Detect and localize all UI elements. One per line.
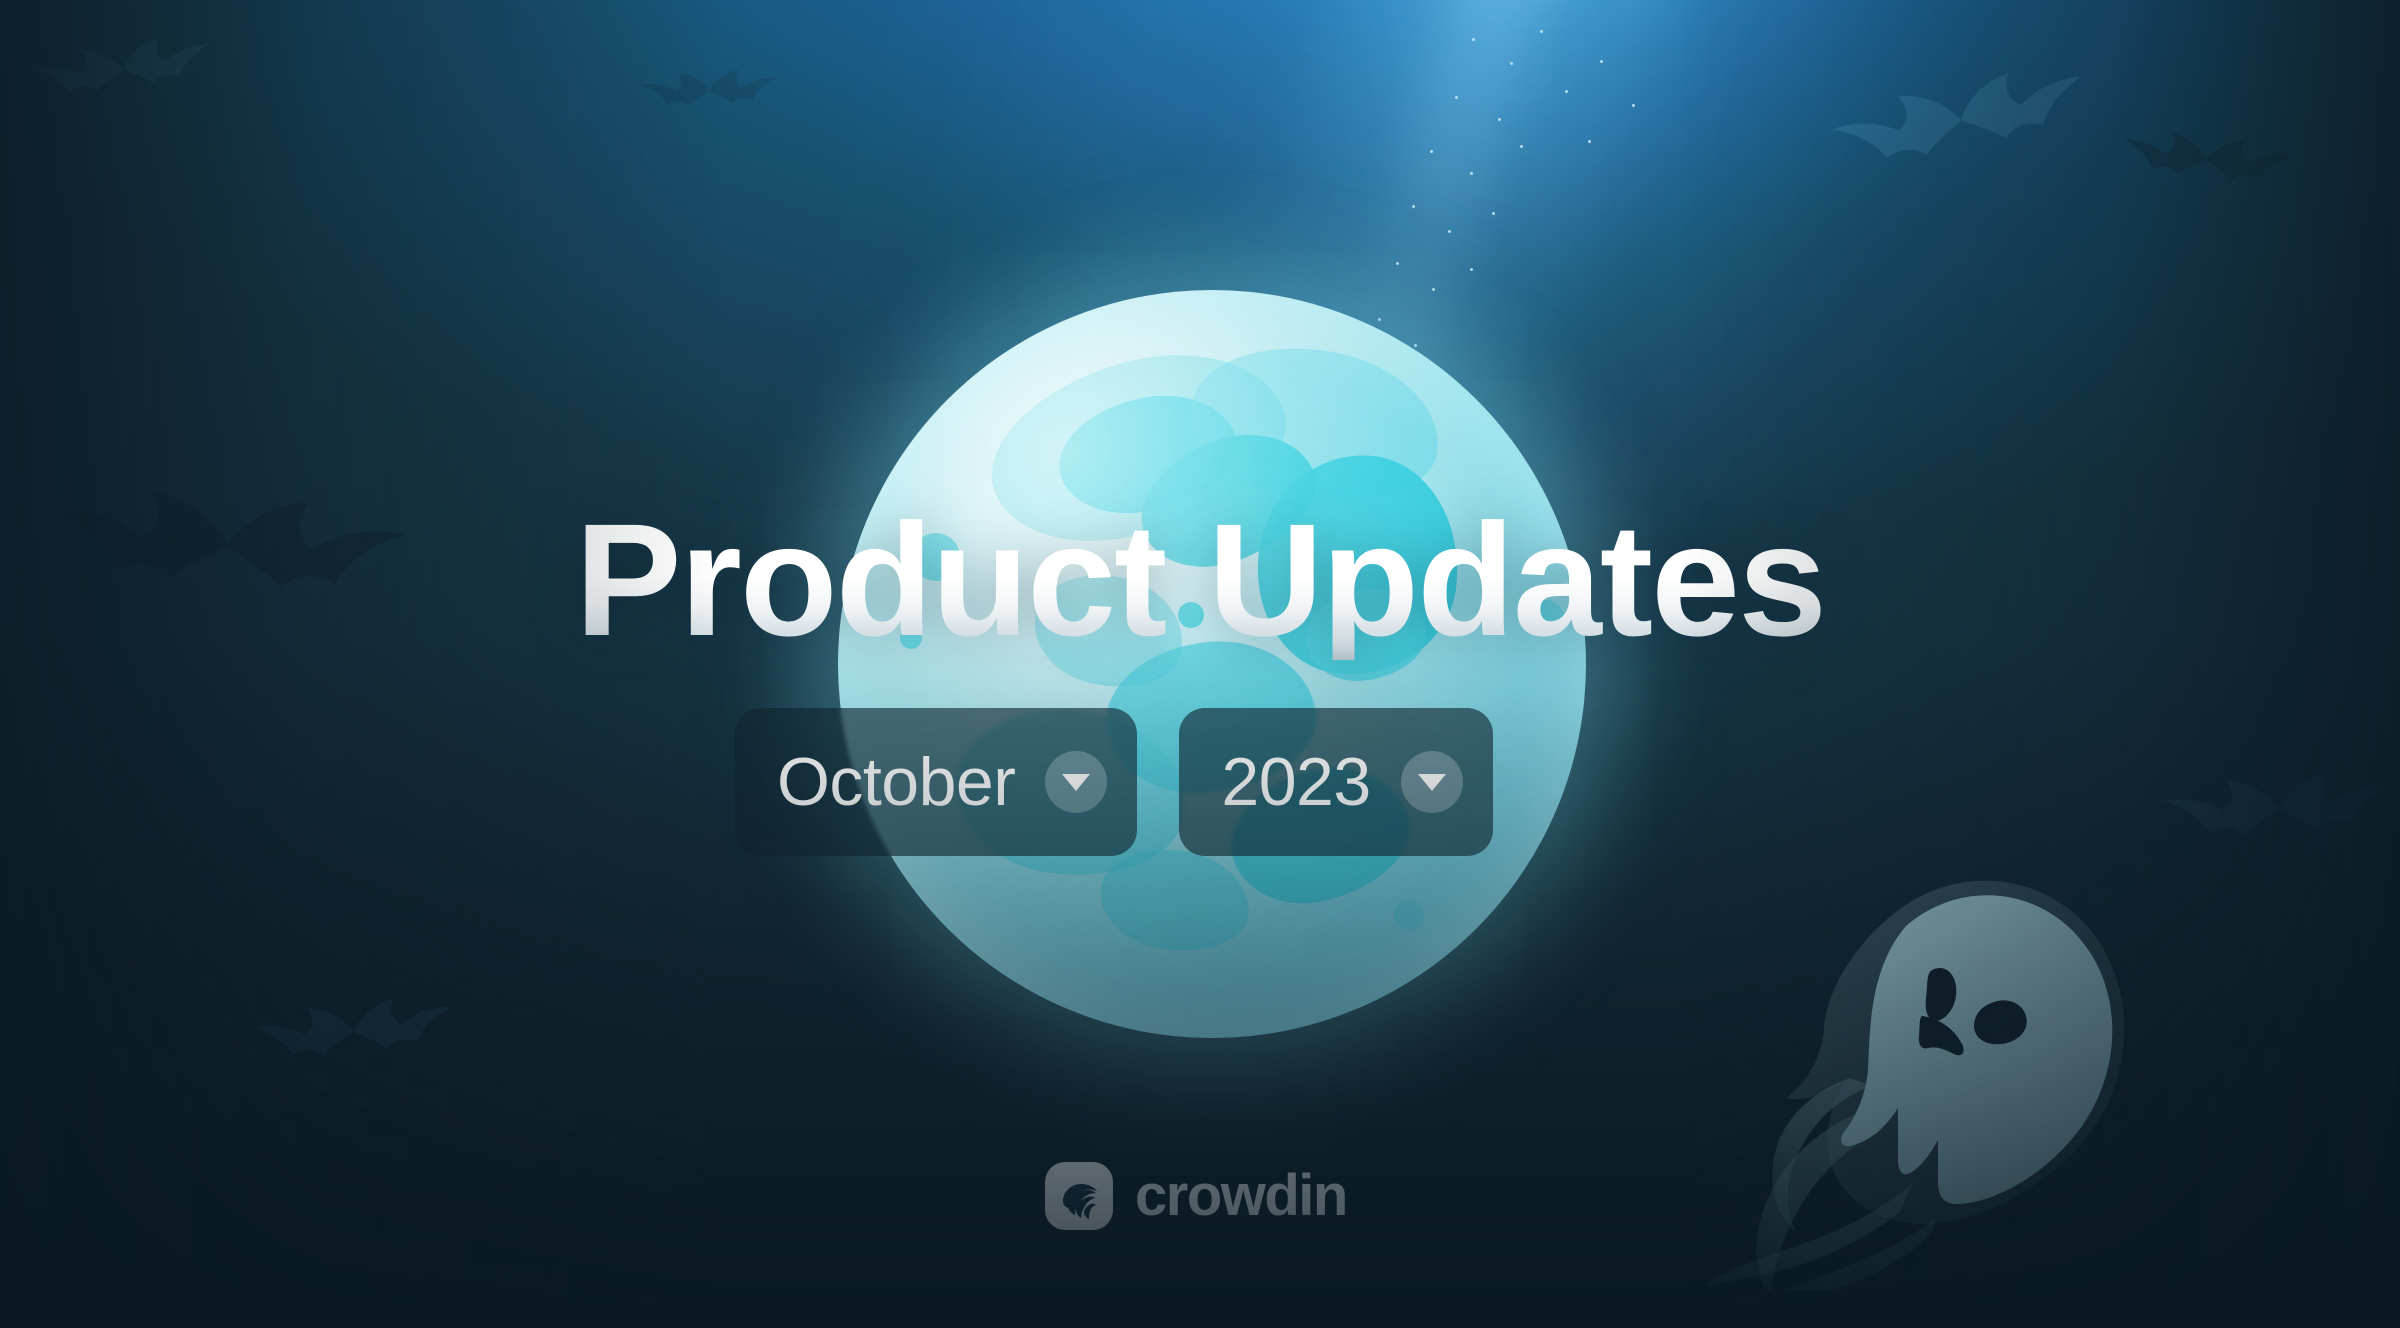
year-selector-value: 2023 [1221, 748, 1370, 816]
bat-icon [632, 62, 789, 143]
bat-icon [2106, 120, 2304, 229]
page-title: Product Updates [0, 500, 2400, 660]
chevron-down-icon[interactable] [1401, 751, 1463, 813]
date-selector-group: October 2023 [735, 708, 1493, 856]
bat-icon [240, 984, 470, 1112]
month-selector[interactable]: October [735, 708, 1137, 856]
product-updates-banner: Product Updates October 2023 [0, 0, 2400, 1328]
crowdin-logo-icon [1045, 1162, 1113, 1230]
month-selector-value: October [777, 748, 1015, 816]
chevron-down-icon[interactable] [1045, 751, 1107, 813]
bat-icon [1969, 1111, 2182, 1239]
crowdin-wordmark: crowdin [1135, 1167, 1347, 1225]
year-selector[interactable]: 2023 [1179, 708, 1492, 856]
bat-icon [2151, 759, 2400, 896]
bat-icon [20, 24, 231, 145]
bat-icon [1812, 45, 2117, 236]
crowdin-logo[interactable]: crowdin [1045, 1162, 1347, 1230]
ghost-icon [1700, 840, 2260, 1290]
bat-icon [373, 1154, 627, 1301]
